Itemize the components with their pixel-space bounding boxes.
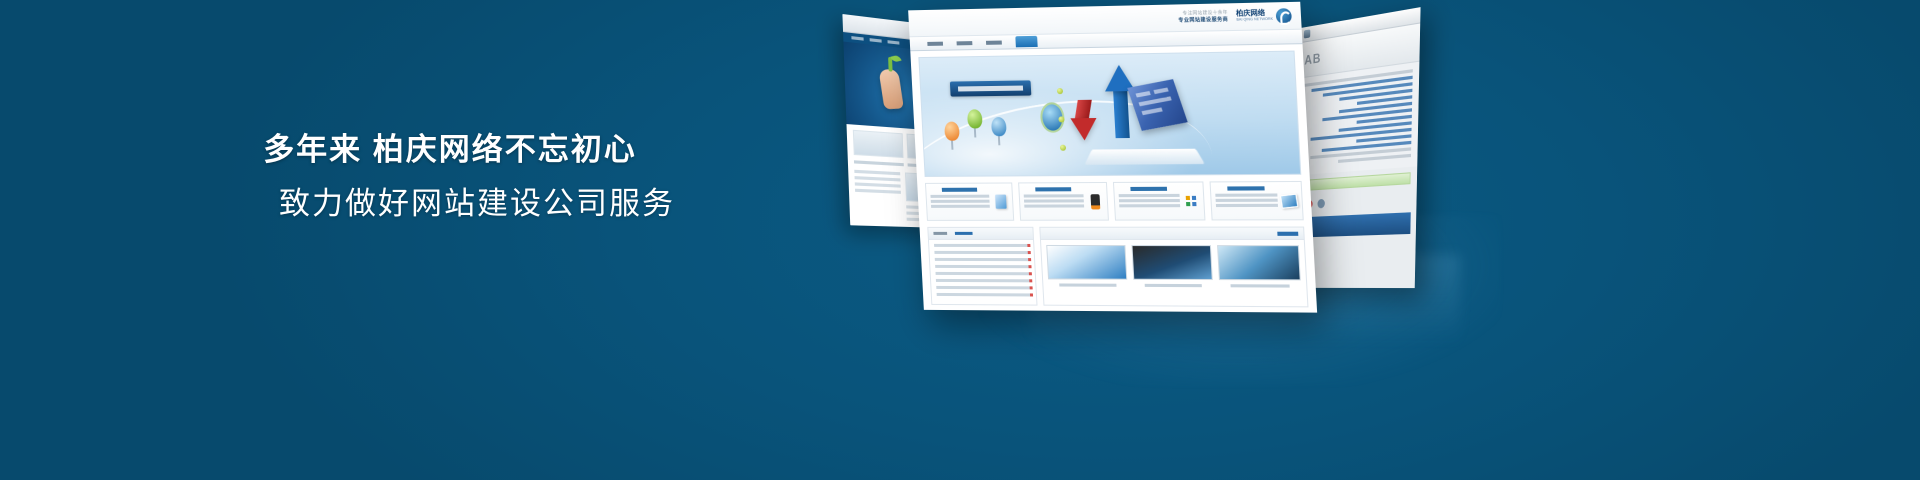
center-header: 专注网站建设十余年 专业网站建设服务商 柏庆网络 BAI QING NETWOR… xyxy=(908,2,1302,37)
balloon-icon xyxy=(991,117,1007,136)
center-nav-item-cases xyxy=(986,40,1002,44)
bullet-dot-icon xyxy=(1058,116,1064,122)
news-tabs xyxy=(928,228,1033,240)
case-thumbnail xyxy=(1217,245,1300,280)
feature-card-line xyxy=(1216,204,1278,207)
right-footer-bar xyxy=(1291,212,1411,237)
leaf-icon xyxy=(890,55,901,63)
hero-pedestal xyxy=(1084,149,1204,165)
left-browser-chrome xyxy=(842,14,1005,51)
feature-card-line xyxy=(1024,194,1084,197)
feature-card-title xyxy=(942,188,977,192)
center-hero-banner xyxy=(918,51,1301,177)
case-caption xyxy=(1231,284,1290,287)
cube-face-line xyxy=(1141,107,1162,115)
right-logo-text: HAB xyxy=(1296,49,1321,68)
center-nav-item-about xyxy=(957,41,973,45)
lightbulb-icon xyxy=(970,81,990,94)
headline-block: 多年来 柏庆网络不忘初心 致力做好网站建设公司服务 xyxy=(0,128,900,227)
left-nav-item xyxy=(888,40,900,44)
left-caption xyxy=(908,163,956,169)
cases-row xyxy=(1041,240,1307,293)
right-list-row xyxy=(1356,134,1411,142)
grid-icon xyxy=(1186,196,1197,206)
center-logo-text: 柏庆网络 xyxy=(1236,10,1273,19)
feature-card-line xyxy=(1119,204,1180,207)
case-caption xyxy=(1144,284,1202,287)
feature-card-line xyxy=(1024,204,1084,207)
right-list-row xyxy=(1357,95,1412,105)
headline-line-2: 致力做好网站建设公司服务 xyxy=(54,182,900,227)
cases-title-bar xyxy=(1277,231,1298,235)
news-list-item xyxy=(936,279,1030,282)
news-panel xyxy=(927,227,1037,306)
case-caption xyxy=(1059,283,1116,286)
left-nav-item xyxy=(870,38,882,42)
grid-cell xyxy=(1192,196,1196,200)
center-logo-subtext: BAI QING NETWORK xyxy=(1236,18,1273,23)
left-product-card xyxy=(958,137,1004,164)
case-thumbnail xyxy=(1046,245,1127,280)
center-website-mockup: 专注网站建设十余年 专业网站建设服务商 柏庆网络 BAI QING NETWOR… xyxy=(908,2,1317,313)
feature-card-title xyxy=(1130,187,1167,191)
cube-face-line xyxy=(1153,87,1168,94)
bullet-dot-icon xyxy=(1060,145,1066,151)
bullet-dot-icon xyxy=(1057,88,1063,94)
website-mockups-group: HAB xyxy=(820,0,1520,400)
alert-icon xyxy=(1305,200,1312,210)
right-list-row xyxy=(1339,121,1412,132)
right-website-mockup: HAB xyxy=(1286,7,1421,288)
feature-card-line xyxy=(1024,199,1084,202)
center-nav-item-contact xyxy=(1015,36,1037,48)
right-list-row xyxy=(1321,141,1411,152)
right-list-row xyxy=(1339,89,1412,101)
news-list-item xyxy=(937,293,1032,297)
case-item xyxy=(1217,245,1301,288)
feature-card-line xyxy=(930,195,989,198)
cases-panel xyxy=(1039,227,1308,308)
feature-card xyxy=(1113,181,1206,220)
grid-cell xyxy=(1186,202,1190,206)
balloon-icon xyxy=(967,109,983,128)
feature-card xyxy=(1018,182,1109,221)
news-tab-industry xyxy=(955,232,973,235)
right-list-row xyxy=(1311,76,1412,92)
print-icon xyxy=(1304,29,1311,38)
calendar-icon xyxy=(1294,31,1301,40)
case-thumbnail xyxy=(1131,245,1213,280)
hero-tagline-text xyxy=(958,86,1023,92)
right-list-row xyxy=(1339,102,1412,114)
news-tab-company xyxy=(933,232,947,235)
cube-icon xyxy=(1127,79,1187,131)
feature-card xyxy=(925,182,1014,220)
grid-cell xyxy=(1186,196,1190,200)
right-toolbar xyxy=(1290,7,1420,45)
feature-card-line xyxy=(1216,199,1278,202)
left-nav-item xyxy=(851,36,863,41)
feature-card-text xyxy=(930,188,990,216)
center-nav-bar xyxy=(910,29,1303,52)
feature-card-text xyxy=(1023,187,1084,216)
right-content-list xyxy=(1288,62,1420,176)
left-main-row xyxy=(906,212,1005,218)
center-logo: 柏庆网络 BAI QING NETWORK xyxy=(1236,8,1292,25)
news-list xyxy=(929,240,1037,305)
cube-face-line xyxy=(1136,91,1151,98)
document-icon xyxy=(995,195,1007,209)
up-arrow-stem xyxy=(1113,89,1130,138)
center-logo-text-block: 柏庆网络 BAI QING NETWORK xyxy=(1236,10,1273,23)
settings-icon xyxy=(1317,199,1325,209)
news-list-item xyxy=(935,272,1029,275)
feature-card-line xyxy=(1119,199,1180,202)
center-slogan: 专注网站建设十余年 专业网站建设服务商 xyxy=(1178,9,1229,25)
balloon-icon-group xyxy=(944,109,1007,141)
down-arrow-icon xyxy=(1070,118,1097,141)
right-list-row xyxy=(1338,154,1411,163)
feature-card-text xyxy=(1118,187,1180,216)
bulb-glyph xyxy=(982,83,990,95)
feature-card-line xyxy=(931,200,990,203)
center-slogan-sub: 专业网站建设服务商 xyxy=(1178,16,1228,25)
right-list-row xyxy=(1310,147,1411,159)
left-product-card xyxy=(907,134,955,162)
screens-reflection-highlight xyxy=(1030,255,1460,345)
center-slogan-line: 专注网站建设十余年 xyxy=(1182,9,1227,15)
info-icon xyxy=(1293,200,1300,209)
headline-line-1: 多年来 柏庆网络不忘初心 xyxy=(0,128,900,173)
news-list-item xyxy=(934,251,1028,254)
feature-card-icon-slot xyxy=(992,188,1009,216)
news-list-item xyxy=(936,286,1030,289)
center-footer xyxy=(932,312,1310,313)
grid-cell xyxy=(1192,202,1196,206)
down-arrow-stem xyxy=(1074,100,1092,123)
feature-card-line xyxy=(1215,193,1277,196)
right-list-row xyxy=(1357,115,1412,124)
left-figure-image xyxy=(905,172,1005,205)
case-item xyxy=(1046,245,1127,287)
hero-swoosh-decoration xyxy=(918,77,1228,177)
phone-icon xyxy=(1090,194,1100,209)
right-list-row xyxy=(1322,82,1412,97)
globe-icon xyxy=(1040,102,1066,133)
feature-card-line xyxy=(931,205,990,208)
cases-header xyxy=(1040,228,1303,240)
center-lower-section xyxy=(927,227,1308,308)
left-caption xyxy=(959,166,1004,172)
feature-card-line xyxy=(1119,194,1180,197)
screens-reflection-glow xyxy=(980,215,1500,385)
case-item xyxy=(1131,245,1213,287)
monitor-icon xyxy=(1280,193,1299,208)
center-nav-item-home xyxy=(927,41,943,45)
news-list-item xyxy=(935,258,1029,261)
feature-card xyxy=(1210,181,1304,221)
left-nav-bar xyxy=(843,32,1005,59)
news-list-item xyxy=(935,265,1029,268)
right-icon-row xyxy=(1287,189,1417,214)
up-arrow-icon xyxy=(1104,65,1136,92)
feature-card-icon-slot xyxy=(1086,187,1104,215)
right-list-row xyxy=(1322,108,1412,121)
cube-face-line xyxy=(1138,96,1171,106)
hand-icon xyxy=(878,69,903,109)
right-highlight-bar xyxy=(1293,172,1411,191)
feature-card-text xyxy=(1215,186,1279,215)
feature-card-title xyxy=(1035,187,1071,191)
right-logo-area: HAB xyxy=(1290,24,1421,80)
swirl-logo-icon xyxy=(1276,8,1292,24)
feature-card-title xyxy=(1227,186,1264,190)
bulb-glyph xyxy=(970,81,979,93)
bullet-dots-group xyxy=(1057,88,1068,173)
left-hero-banner xyxy=(843,42,1008,136)
hero-tagline-badge xyxy=(950,80,1031,96)
hero-banner: 多年来 柏庆网络不忘初心 致力做好网站建设公司服务 xyxy=(0,0,1920,480)
right-list-row xyxy=(1295,69,1413,88)
feature-card-icon-slot xyxy=(1182,187,1200,216)
left-main-column xyxy=(905,172,1006,226)
left-main-row xyxy=(906,205,1005,212)
news-list-item xyxy=(934,244,1028,247)
center-feature-cards xyxy=(925,181,1304,221)
feature-card-icon-slot xyxy=(1280,186,1298,215)
right-list-row xyxy=(1310,128,1411,141)
left-main-row xyxy=(907,218,1006,224)
sprout-icon xyxy=(888,57,892,72)
balloon-icon xyxy=(944,122,960,141)
